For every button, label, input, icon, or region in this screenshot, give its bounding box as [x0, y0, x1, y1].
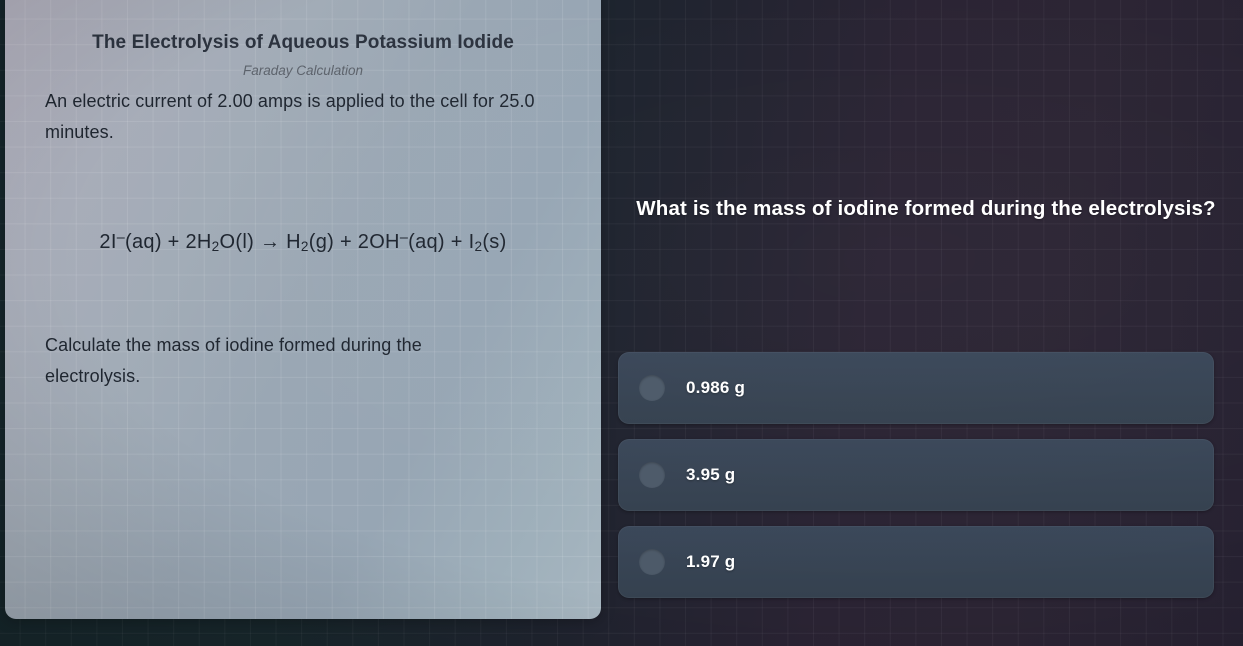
equation-plus-1: + [168, 231, 180, 253]
answer-option-1[interactable]: 0.986 g [618, 352, 1214, 424]
chemical-equation: 2I–(aq) + 2H2O(l) → H2(g) + 2OH–(aq) + I… [45, 148, 561, 254]
answer-option-2[interactable]: 3.95 g [618, 439, 1214, 511]
answer-option-label: 0.986 g [686, 378, 745, 398]
equation-arrow: → [260, 231, 280, 253]
equation-hydrogen-state: (g) [309, 231, 334, 253]
answer-option-3[interactable]: 1.97 g [618, 526, 1214, 598]
radio-button-icon[interactable] [639, 462, 665, 488]
slide-title: The Electrolysis of Aqueous Potassium Io… [45, 32, 561, 55]
quiz-screen: The Electrolysis of Aqueous Potassium Io… [0, 0, 1243, 646]
equation-water-rest: O(l) [220, 231, 255, 253]
equation-iodide-state: (aq) [125, 231, 162, 253]
equation-water-subscript: 2 [212, 239, 220, 254]
radio-button-icon[interactable] [639, 549, 665, 575]
equation-product-hydroxide: 2OH [358, 231, 400, 253]
radio-button-icon[interactable] [639, 375, 665, 401]
equation-iodide-charge: – [117, 230, 125, 246]
equation-iodine-state: (s) [482, 231, 506, 253]
equation-hydrogen-subscript: 2 [301, 239, 309, 254]
equation-hydroxide-state: (aq) [408, 231, 445, 253]
equation-reactant-iodide: 2I [99, 231, 116, 253]
equation-plus-3: + [451, 231, 463, 253]
slide-body-text: An electric current of 2.00 amps is appl… [45, 86, 561, 148]
slide-subtitle: Faraday Calculation [45, 63, 561, 78]
equation-hydroxide-charge: – [400, 230, 408, 246]
answer-options-list: 0.986 g 3.95 g 1.97 g [618, 352, 1214, 598]
equation-reactant-water: 2H [186, 231, 212, 253]
slide-card: The Electrolysis of Aqueous Potassium Io… [5, 0, 601, 619]
answer-option-label: 3.95 g [686, 465, 735, 485]
answer-option-label: 1.97 g [686, 552, 735, 572]
equation-product-hydrogen: H [286, 231, 301, 253]
quiz-panel: What is the mass of iodine formed during… [610, 0, 1243, 646]
equation-plus-2: + [340, 231, 352, 253]
slide-prompt-text: Calculate the mass of iodine formed duri… [45, 254, 515, 392]
question-text: What is the mass of iodine formed during… [622, 190, 1230, 228]
slide-content: The Electrolysis of Aqueous Potassium Io… [5, 0, 601, 619]
